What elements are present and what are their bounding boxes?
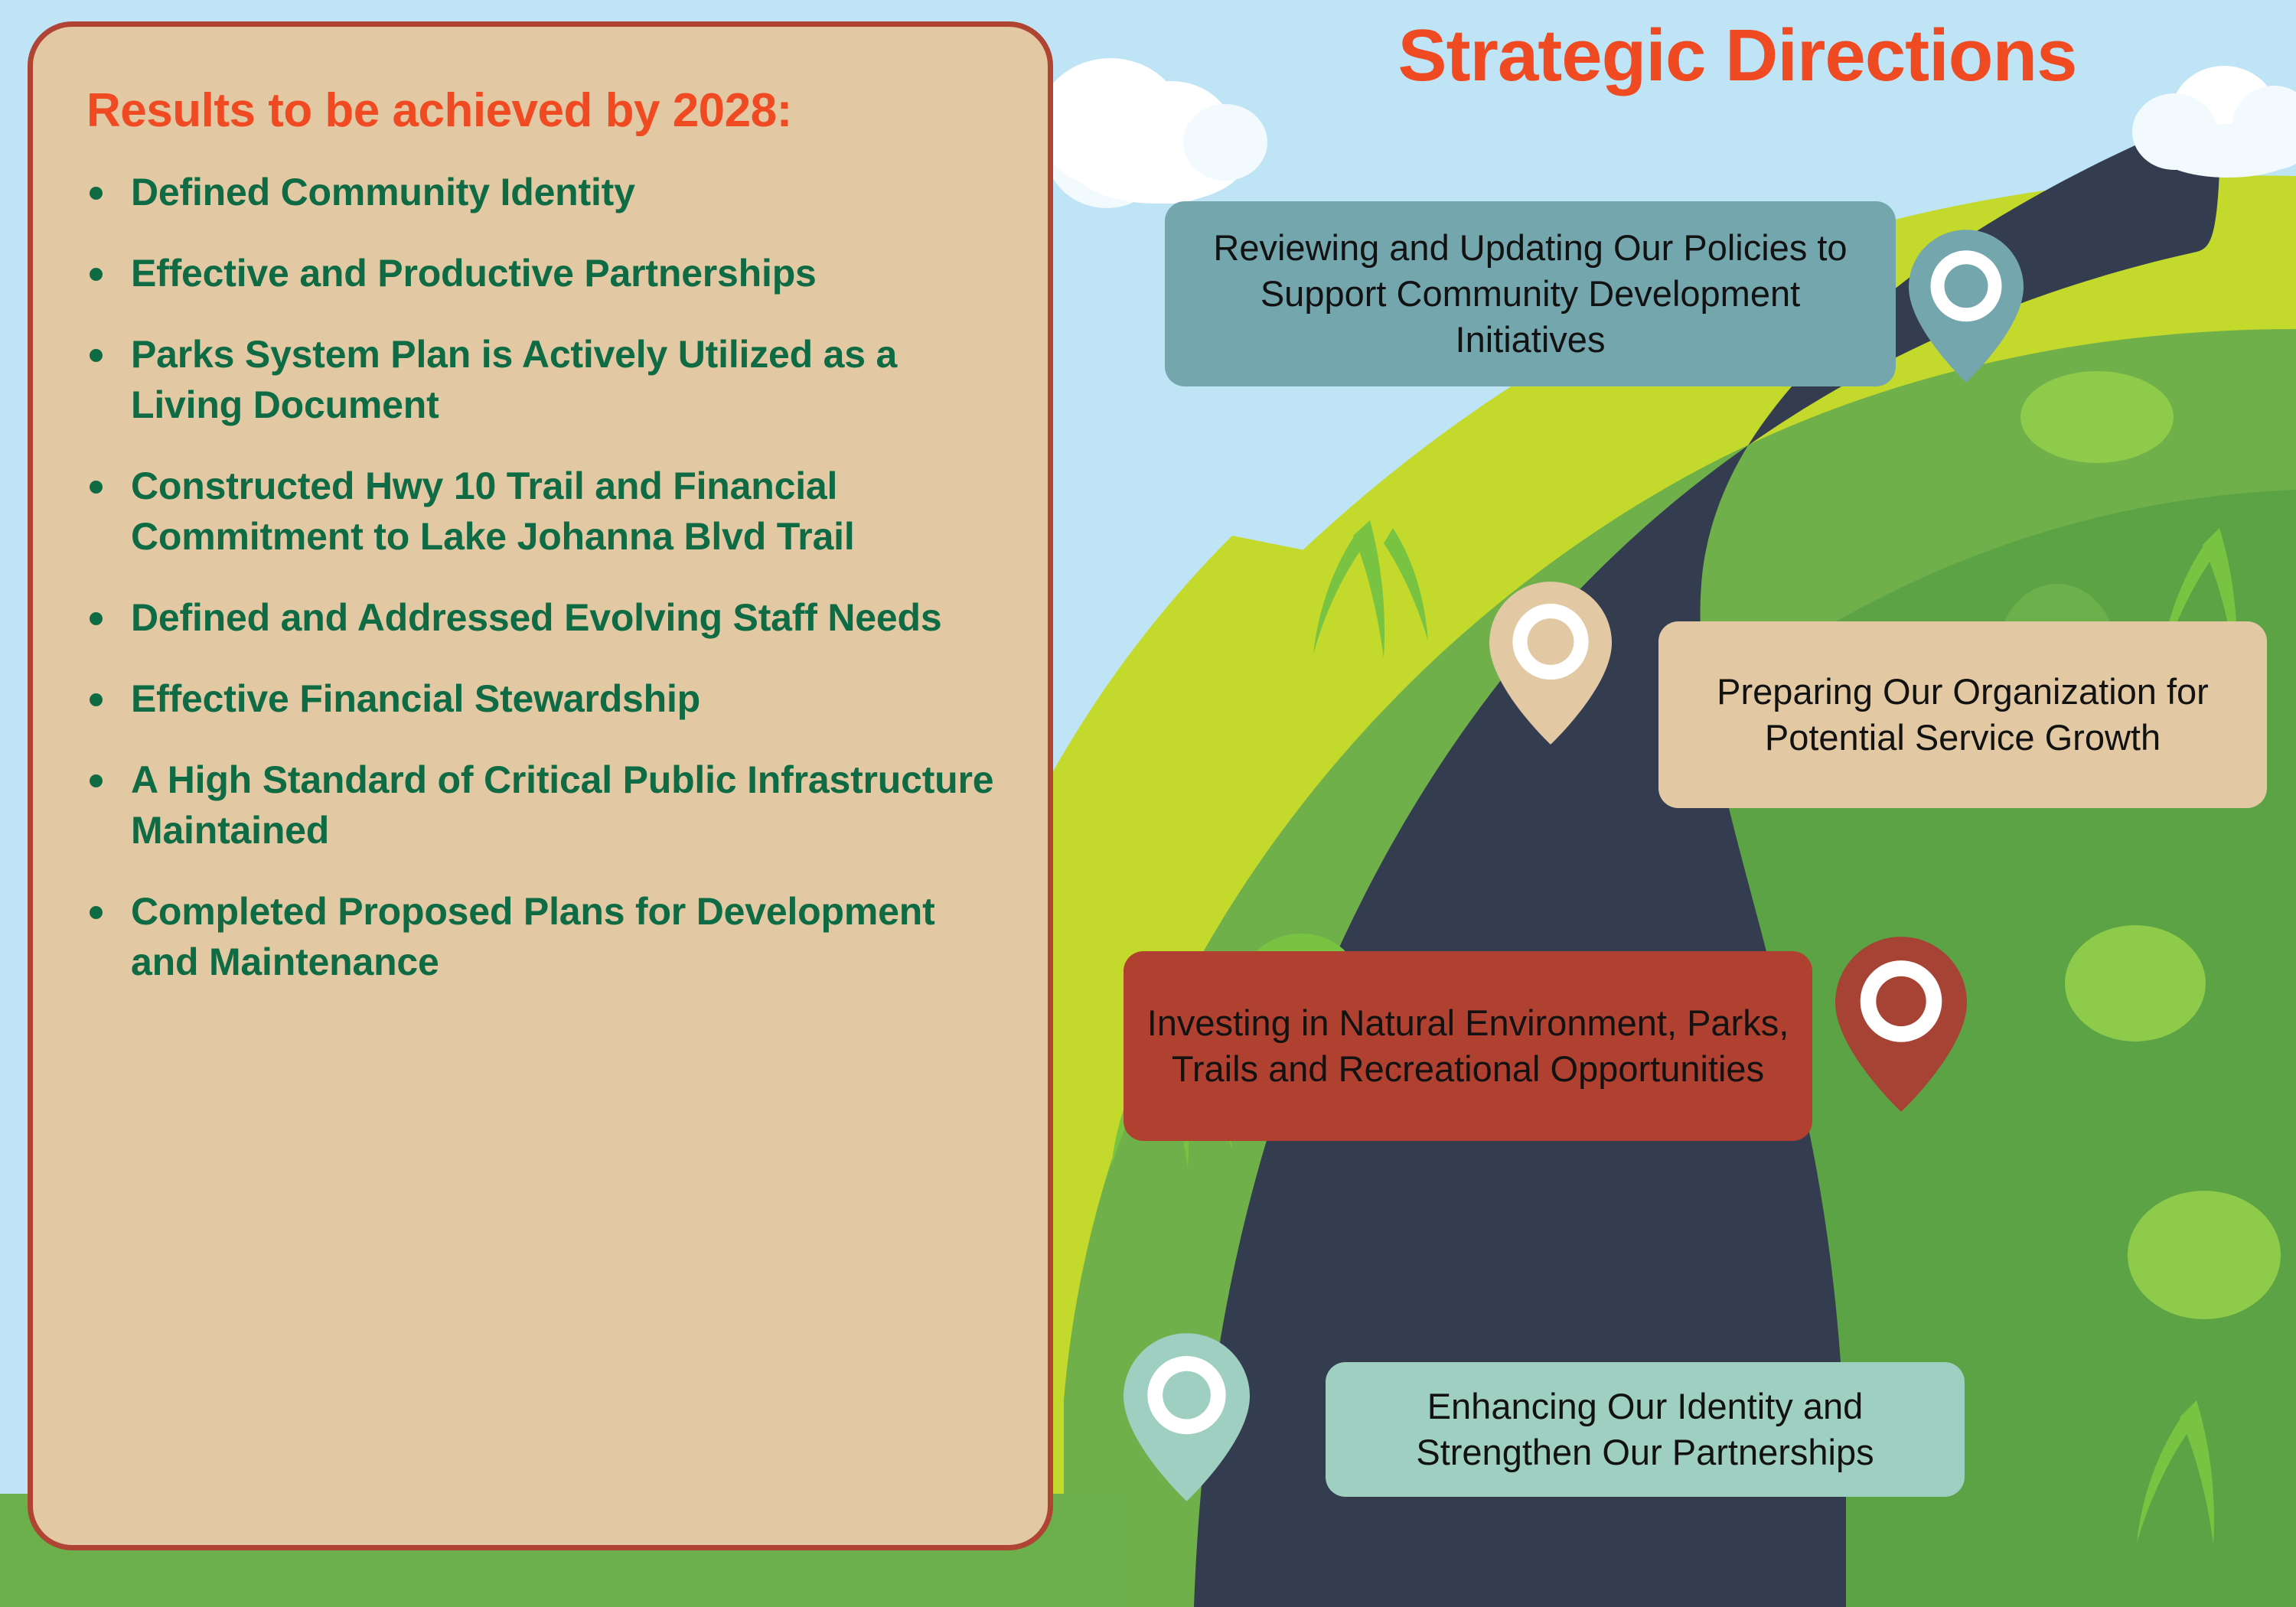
shrub-oval-3 xyxy=(2065,925,2206,1041)
callout-label: Preparing Our Organization for Potential… xyxy=(1678,669,2247,760)
map-pin-natural-environment xyxy=(1835,937,1967,1112)
results-bullet-list: Defined Community Identity Effective and… xyxy=(76,167,1005,987)
list-item: Constructed Hwy 10 Trail and Financial C… xyxy=(76,461,1005,562)
list-item-label: Parks System Plan is Actively Utilized a… xyxy=(131,333,897,426)
bullet-dot-icon xyxy=(90,906,103,919)
map-pin-center xyxy=(1163,1371,1211,1420)
list-item-label: Effective Financial Stewardship xyxy=(131,677,700,720)
map-pin-service-growth xyxy=(1489,582,1612,745)
list-item: Parks System Plan is Actively Utilized a… xyxy=(76,329,1005,430)
list-item-label: A High Standard of Critical Public Infra… xyxy=(131,758,993,852)
callout-label: Investing in Natural Environment, Parks,… xyxy=(1143,1000,1792,1091)
page-title: Strategic Directions xyxy=(1225,14,2250,98)
list-item-label: Effective and Productive Partnerships xyxy=(131,252,817,295)
list-item: Effective and Productive Partnerships xyxy=(76,248,1005,298)
callout-service-growth: Preparing Our Organization for Potential… xyxy=(1658,621,2267,808)
map-pin-identity-partnerships xyxy=(1124,1333,1250,1501)
callout-label: Reviewing and Updating Our Policies to S… xyxy=(1185,225,1876,362)
list-item: Effective Financial Stewardship xyxy=(76,673,1005,724)
results-panel-heading: Results to be achieved by 2028: xyxy=(86,83,1005,138)
callout-label: Enhancing Our Identity and Strengthen Ou… xyxy=(1345,1384,1945,1475)
results-panel: Results to be achieved by 2028: Defined … xyxy=(28,21,1053,1550)
list-item-label: Defined and Addressed Evolving Staff Nee… xyxy=(131,596,941,639)
list-item: Defined and Addressed Evolving Staff Nee… xyxy=(76,592,1005,643)
callout-natural-environment: Investing in Natural Environment, Parks,… xyxy=(1124,951,1812,1141)
list-item-label: Constructed Hwy 10 Trail and Financial C… xyxy=(131,464,855,558)
callout-identity-partnerships: Enhancing Our Identity and Strengthen Ou… xyxy=(1326,1362,1965,1497)
map-pin-center xyxy=(1876,976,1926,1026)
map-pin-center xyxy=(1528,618,1574,665)
map-pin-policies xyxy=(1909,230,2024,383)
bullet-dot-icon xyxy=(90,481,103,494)
list-item: Defined Community Identity xyxy=(76,167,1005,217)
list-item: A High Standard of Critical Public Infra… xyxy=(76,755,1005,856)
bullet-dot-icon xyxy=(90,774,103,787)
bullet-dot-icon xyxy=(90,349,103,362)
infographic-canvas: Strategic Directions Results to be achie… xyxy=(0,0,2296,1607)
shrub-oval-5 xyxy=(2020,371,2174,463)
list-item-label: Defined Community Identity xyxy=(131,171,635,214)
bullet-dot-icon xyxy=(90,187,103,200)
shrub-oval-4 xyxy=(2128,1191,2281,1319)
map-pin-center xyxy=(1945,264,1988,308)
list-item: Completed Proposed Plans for Development… xyxy=(76,886,1005,987)
bullet-dot-icon xyxy=(90,268,103,281)
bullet-dot-icon xyxy=(90,612,103,625)
callout-policies: Reviewing and Updating Our Policies to S… xyxy=(1165,201,1896,386)
bullet-dot-icon xyxy=(90,693,103,706)
list-item-label: Completed Proposed Plans for Development… xyxy=(131,890,935,983)
